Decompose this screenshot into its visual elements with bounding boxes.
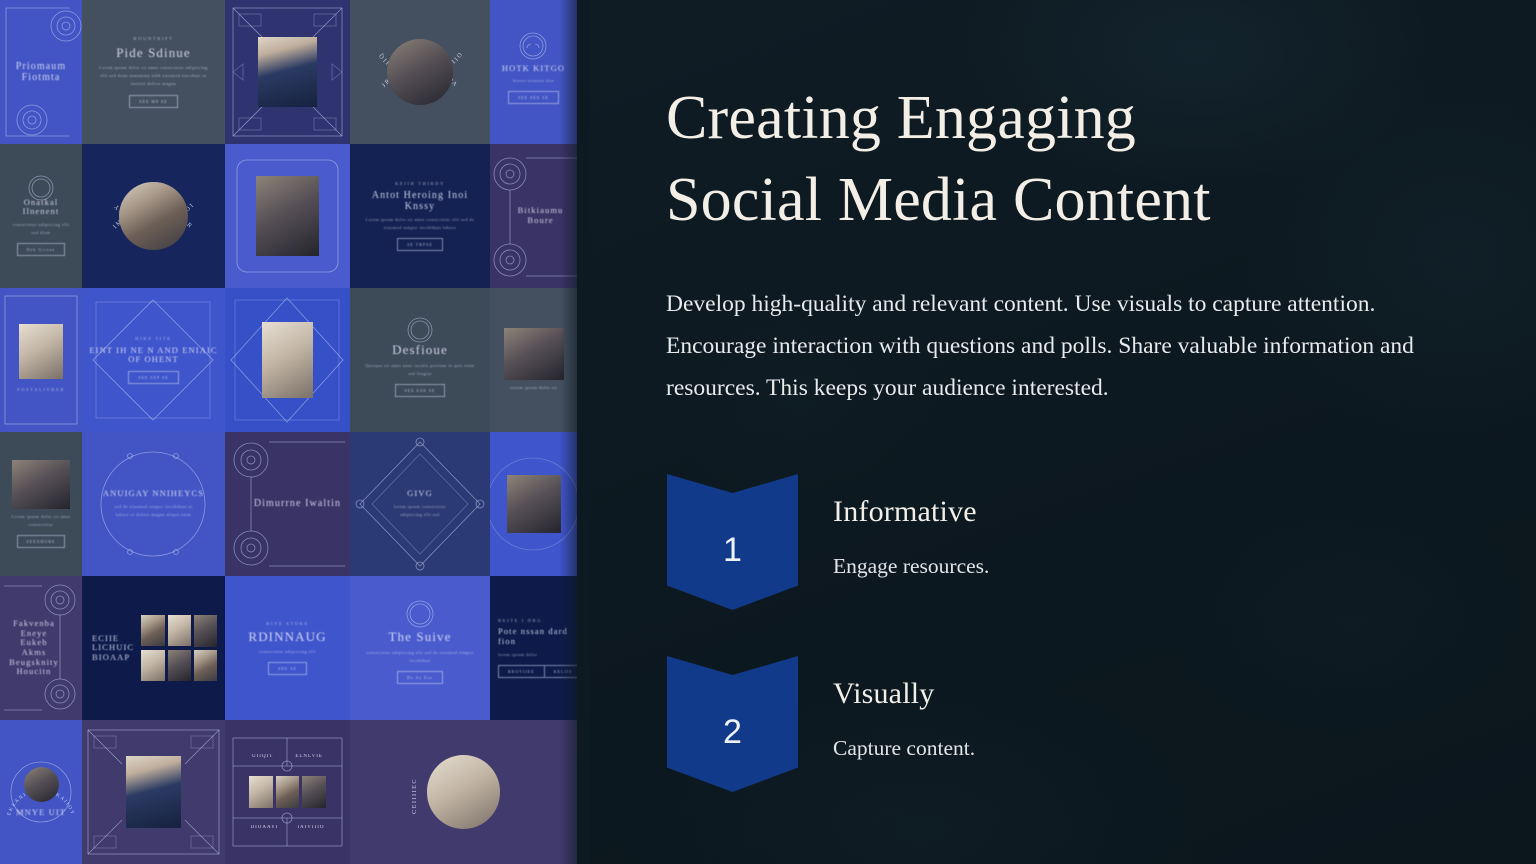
tile-photo — [258, 37, 317, 107]
tile-title: Onatkal Ilnenent — [6, 198, 76, 217]
collage-tile: oorem ipsum dolor sit — [490, 288, 577, 432]
tile-label: IAIVIIIO — [297, 825, 324, 831]
tile-button[interactable]: SEE SE — [268, 662, 307, 675]
tile-kicker: BEITE I DRG — [498, 618, 542, 623]
slide-root: Priomaum Fiotmta ROUNTRIFT Pide Sdinue L… — [0, 0, 1536, 864]
tile-body: kovoo soonoos don — [513, 77, 554, 85]
step-badge-1: 1 — [667, 474, 798, 610]
collage-tile: The Suive consectetur adipiscing elit se… — [350, 576, 490, 720]
list-item: 2 Visually Capture content. — [666, 656, 1446, 816]
collage-tile: HIKE TITE EINT IH NE N AND ENIAIC OF OHE… — [82, 288, 225, 432]
tile-button[interactable]: SEE MP SE — [129, 95, 177, 108]
collage-tile: ANUIGAY NNIHEYCS sed do eiusmod tempor i… — [82, 432, 225, 576]
tile-photo — [24, 767, 59, 802]
tile-kicker: HIVE STOKE — [266, 621, 309, 626]
collage-tile: Dimurrne Iwaltin — [225, 432, 350, 576]
collage-tile — [225, 288, 350, 432]
collage-tile: POSTALITHER — [0, 288, 82, 432]
tile-title: HOTK KITGO — [502, 64, 565, 74]
tile-kicker: KEIIH THIRDY — [395, 181, 445, 186]
tile-photo — [427, 755, 500, 828]
tile-title: Dimurrne Iwaltin — [254, 498, 341, 509]
tile-photo — [194, 615, 217, 646]
step-number: 1 — [723, 517, 742, 567]
step-description: Engage resources. — [833, 553, 1433, 581]
tile-caption: POSTALITHER — [17, 387, 65, 392]
step-title: Informative — [833, 494, 1433, 530]
tile-photo — [141, 650, 164, 681]
tile-button[interactable]: SEEXHORE — [17, 535, 66, 548]
collage-tile: BEITE I DRG Pote nssan dard fion lorem i… — [490, 576, 577, 720]
tile-photo — [19, 324, 64, 379]
tile-title: Pote nssan dard fion — [498, 627, 571, 646]
tile-photo — [141, 615, 164, 646]
collage-tile — [490, 432, 577, 576]
tile-photo — [194, 650, 217, 681]
tile-body: lorem ipsum consectetur adipiscing elit … — [383, 503, 457, 519]
tile-title: The Suive — [389, 630, 452, 645]
tile-photo — [262, 322, 314, 397]
tile-photo — [12, 460, 69, 509]
tile-label: ELNLVIE — [295, 754, 323, 760]
tile-title: MNYE UIT — [16, 808, 66, 818]
logo-icon — [350, 288, 490, 432]
tile-button[interactable]: SE TRPSE — [397, 238, 443, 251]
tile-label: DIOAAYI — [250, 825, 278, 831]
tile-photo — [249, 776, 272, 807]
collage-tile: JROONY - SSUKKPA OIIIK HSPIOV P AEIIQ — [350, 0, 490, 144]
tile-title: RDINNAUG — [248, 630, 326, 645]
tile-button[interactable]: Dek Girean — [17, 243, 66, 256]
tile-body: lorem ipsum dolor — [498, 651, 537, 659]
collage-tile: Desfioue Quisque sit amet nunc iaculis p… — [350, 288, 490, 432]
tile-photo — [302, 776, 325, 807]
collage-tile: HOTK KITGO kovoo soonoos don SEE SEE SE — [490, 0, 577, 144]
collage-tile: Bitkiaumu Boure — [490, 144, 577, 288]
tile-body: Lorem ipsum dolor sit amet consectetur e… — [364, 216, 477, 232]
tile-photo — [168, 615, 191, 646]
tile-photo — [387, 39, 454, 106]
step-badge-2: 2 — [667, 656, 798, 792]
tile-body: consectetur adipiscing elit — [259, 648, 316, 656]
tile-title: GIVG — [407, 489, 433, 499]
tile-button[interactable]: De Ae Ese — [397, 671, 443, 684]
photo-grid — [249, 776, 325, 807]
tile-body: sed do eiusmod tempor incididunt ut labo… — [113, 503, 194, 519]
collage-tile: HIVE STOKE RDINNAUG consectetur adipisci… — [225, 576, 350, 720]
collage-tile — [225, 0, 350, 144]
collage-tile: GIVG lorem ipsum consectetur adipiscing … — [350, 432, 490, 576]
tile-button[interactable]: SEE SEP SE — [128, 371, 179, 384]
steps-list: 1 Informative Engage resources. 2 Visual… — [666, 474, 1446, 816]
tile-title: Bitkiaumu Boure — [510, 206, 571, 225]
tile-label: UIIQIT — [252, 754, 273, 760]
step-text-block: Visually Capture content. — [833, 676, 1433, 763]
tile-body: Quisque sit amet nunc iaculis pretium in… — [364, 362, 477, 378]
body-paragraph: Develop high-quality and relevant conten… — [666, 284, 1436, 409]
tile-title: EINT IH NE N AND ENIAIC OF OHENT — [88, 346, 219, 365]
title-line-2: Social Media Content — [666, 166, 1211, 234]
content-panel: Creating Engaging Social Media Content D… — [666, 0, 1466, 864]
tile-title: Priomaum Fiotmta — [6, 61, 76, 83]
tile-title: ECIIE LICHUIC BIOAAP — [92, 634, 135, 663]
list-item: 1 Informative Engage resources. — [666, 474, 1446, 634]
tile-photo — [168, 650, 191, 681]
collage-tile: EKEANIIELS BKKAIIOY MNYE UIT — [0, 720, 82, 864]
tile-button[interactable]: SEE SEE SE — [508, 91, 559, 104]
collage-tile: IMAI IFANY B IIVER IQ GHIIO BUIIIIANY — [82, 144, 225, 288]
collage-tile: ROUNTRIFT Pide Sdinue Lorem ipsum dolor … — [82, 0, 225, 144]
tile-kicker: HIKE TITE — [135, 336, 171, 341]
tile-tab[interactable]: KELIIE — [545, 665, 577, 678]
tile-title: Desfioue — [392, 343, 448, 358]
tile-body: oorem ipsum dolor sit — [510, 384, 557, 392]
collage-tile — [225, 144, 350, 288]
tile-tabs: BROVIIEE KELIIE — [498, 665, 571, 678]
tile-title: Antot Heroing Inoi Knssy — [356, 190, 484, 212]
tile-kicker: ROUNTRIFT — [133, 36, 173, 41]
tile-body: Lorem ipsum dolor sit amet consectetur — [10, 513, 72, 529]
collage-tile: Onatkal Ilnenent consectetur adipiscing … — [0, 144, 82, 288]
tile-title: Fakvenba Eneye Eukeb Akms Beugsknity Hou… — [8, 619, 60, 676]
collage-tile: KEIIH THIRDY Antot Heroing Inoi Knssy Lo… — [350, 144, 490, 288]
tile-title: ANUIGAY NNIHEYCS — [103, 489, 204, 499]
svg-text:CEIIIIEC: CEIIIIEC — [411, 778, 418, 814]
collage-tile: Priomaum Fiotmta — [0, 0, 82, 144]
tile-photo — [507, 475, 561, 532]
step-number: 2 — [723, 699, 742, 749]
tile-body: consectetur adipiscing elit sed do eiusm… — [364, 649, 477, 665]
collage-tile: Fakvenba Eneye Eukeb Akms Beugsknity Hou… — [0, 576, 82, 720]
tile-tab[interactable]: BROVIIEE — [498, 665, 545, 678]
photo-grid — [141, 615, 217, 680]
tile-photo — [126, 756, 181, 829]
collage-tile: UIIQIT ELNLVIE DIOAAYI IAIVIIIO — [225, 720, 350, 864]
tile-body: Lorem ipsum dolor sit amet consectetur a… — [96, 64, 211, 88]
tile-body: consectetur adipiscing elit sed diam — [10, 221, 72, 237]
step-text-block: Informative Engage resources. — [833, 494, 1433, 581]
page-title: Creating Engaging Social Media Content — [666, 78, 1406, 242]
collage-tile: ECIIE LICHUIC BIOAAP — [82, 576, 225, 720]
tile-button[interactable]: SEE ESE SE — [395, 384, 446, 397]
collage-tile: HKECOKY DEIWSSY CEIIIIEC — [350, 720, 577, 864]
collage-tile: Lorem ipsum dolor sit amet consectetur S… — [0, 432, 82, 576]
step-title: Visually — [833, 676, 1433, 712]
collage-tile — [82, 720, 225, 864]
tile-photo — [276, 776, 299, 807]
tile-photo — [256, 176, 319, 257]
tile-photo — [119, 182, 187, 250]
title-line-1: Creating Engaging — [666, 84, 1136, 152]
tile-title: Pide Sdinue — [116, 46, 191, 61]
tile-photo — [504, 328, 564, 380]
image-collage: Priomaum Fiotmta ROUNTRIFT Pide Sdinue L… — [0, 0, 577, 864]
step-description: Capture content. — [833, 735, 1433, 763]
